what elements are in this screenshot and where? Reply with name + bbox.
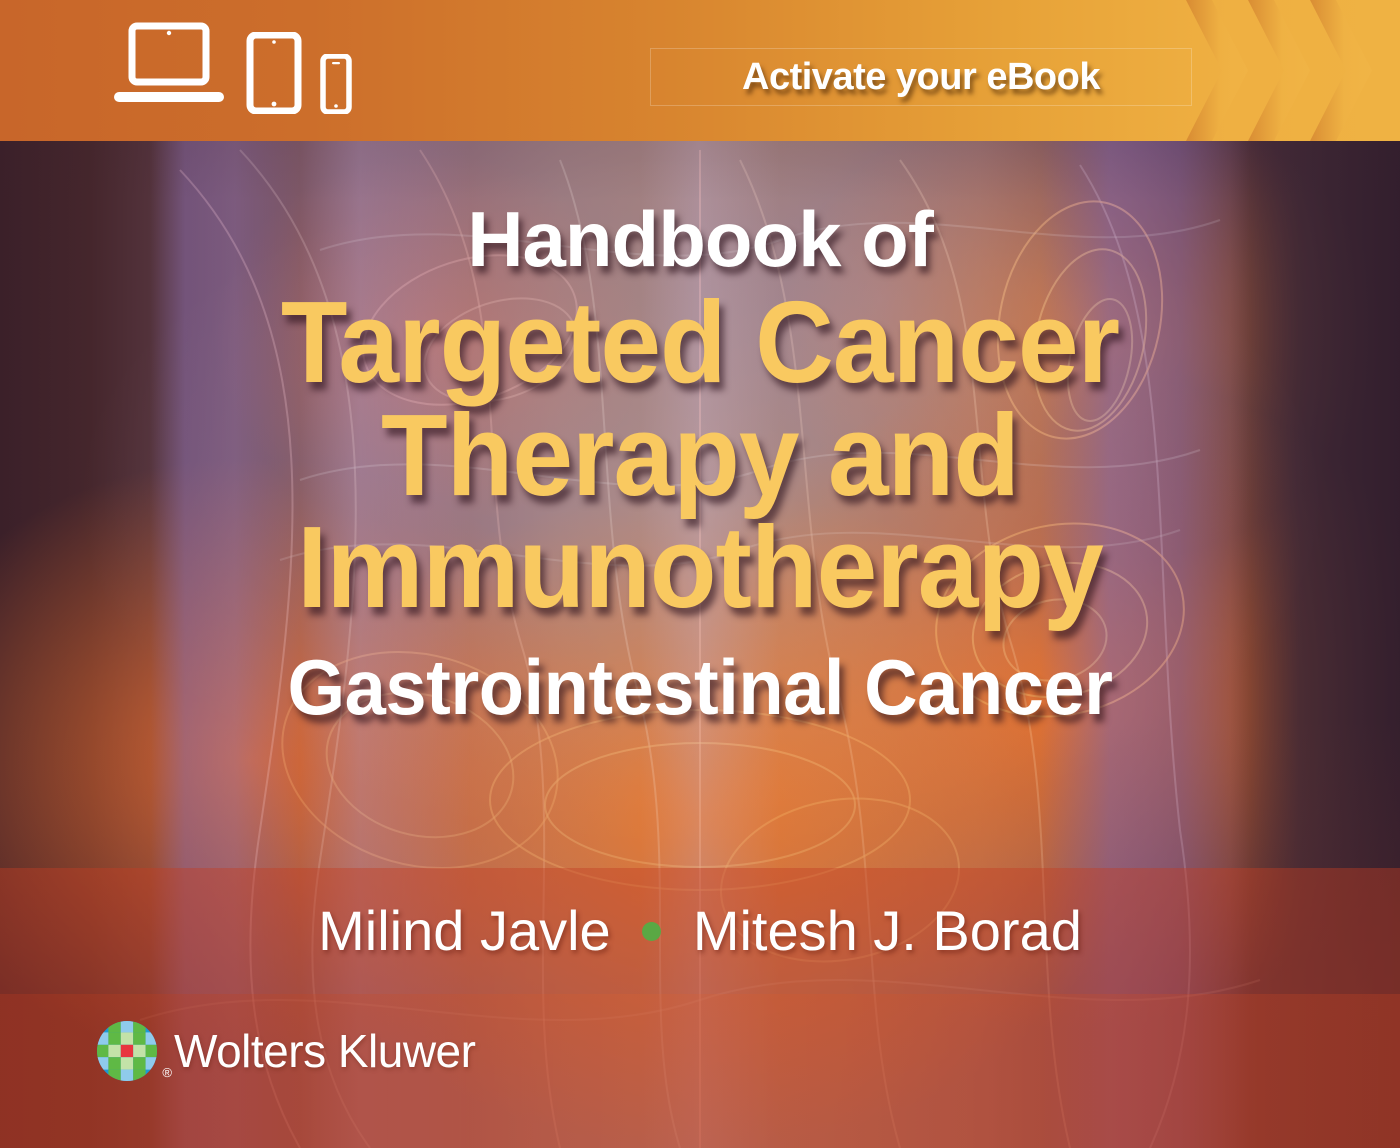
title-block: Handbook of Targeted Cancer Therapy and … xyxy=(0,200,1400,733)
tablet-icon xyxy=(246,32,302,114)
title-main: Targeted Cancer Therapy and Immunotherap… xyxy=(42,286,1358,624)
title-prefix: Handbook of xyxy=(0,200,1400,278)
activate-ebook-label: Activate your eBook xyxy=(742,56,1100,99)
book-cover: Activate your eBook Handbook of Targeted… xyxy=(0,0,1400,1148)
chevron-right-icon xyxy=(1248,0,1310,141)
phone-icon xyxy=(320,54,352,114)
authors-line: Milind Javle Mitesh J. Borad xyxy=(0,898,1400,963)
author-second: Mitesh J. Borad xyxy=(693,899,1082,962)
publisher-logo-group: ® Wolters Kluwer xyxy=(96,1020,475,1082)
title-subtitle: Gastrointestinal Cancer xyxy=(35,642,1365,733)
device-icons-group xyxy=(110,22,352,114)
laptop-icon xyxy=(110,22,228,114)
ebook-banner: Activate your eBook xyxy=(0,0,1400,141)
registered-trademark-mark: ® xyxy=(162,1065,172,1080)
wolters-kluwer-logo-icon: ® xyxy=(96,1020,158,1082)
title-line-3: Immunotherapy xyxy=(42,511,1358,624)
chevron-decoration-group xyxy=(1180,0,1400,141)
author-first: Milind Javle xyxy=(318,899,611,962)
author-separator-dot xyxy=(642,922,661,941)
title-line-1: Targeted Cancer xyxy=(42,286,1358,399)
activate-ebook-callout[interactable]: Activate your eBook xyxy=(650,48,1192,106)
chevron-right-icon xyxy=(1186,0,1248,141)
title-line-2: Therapy and xyxy=(42,399,1358,512)
chevron-right-icon xyxy=(1310,0,1372,141)
publisher-name: Wolters Kluwer xyxy=(174,1024,475,1078)
